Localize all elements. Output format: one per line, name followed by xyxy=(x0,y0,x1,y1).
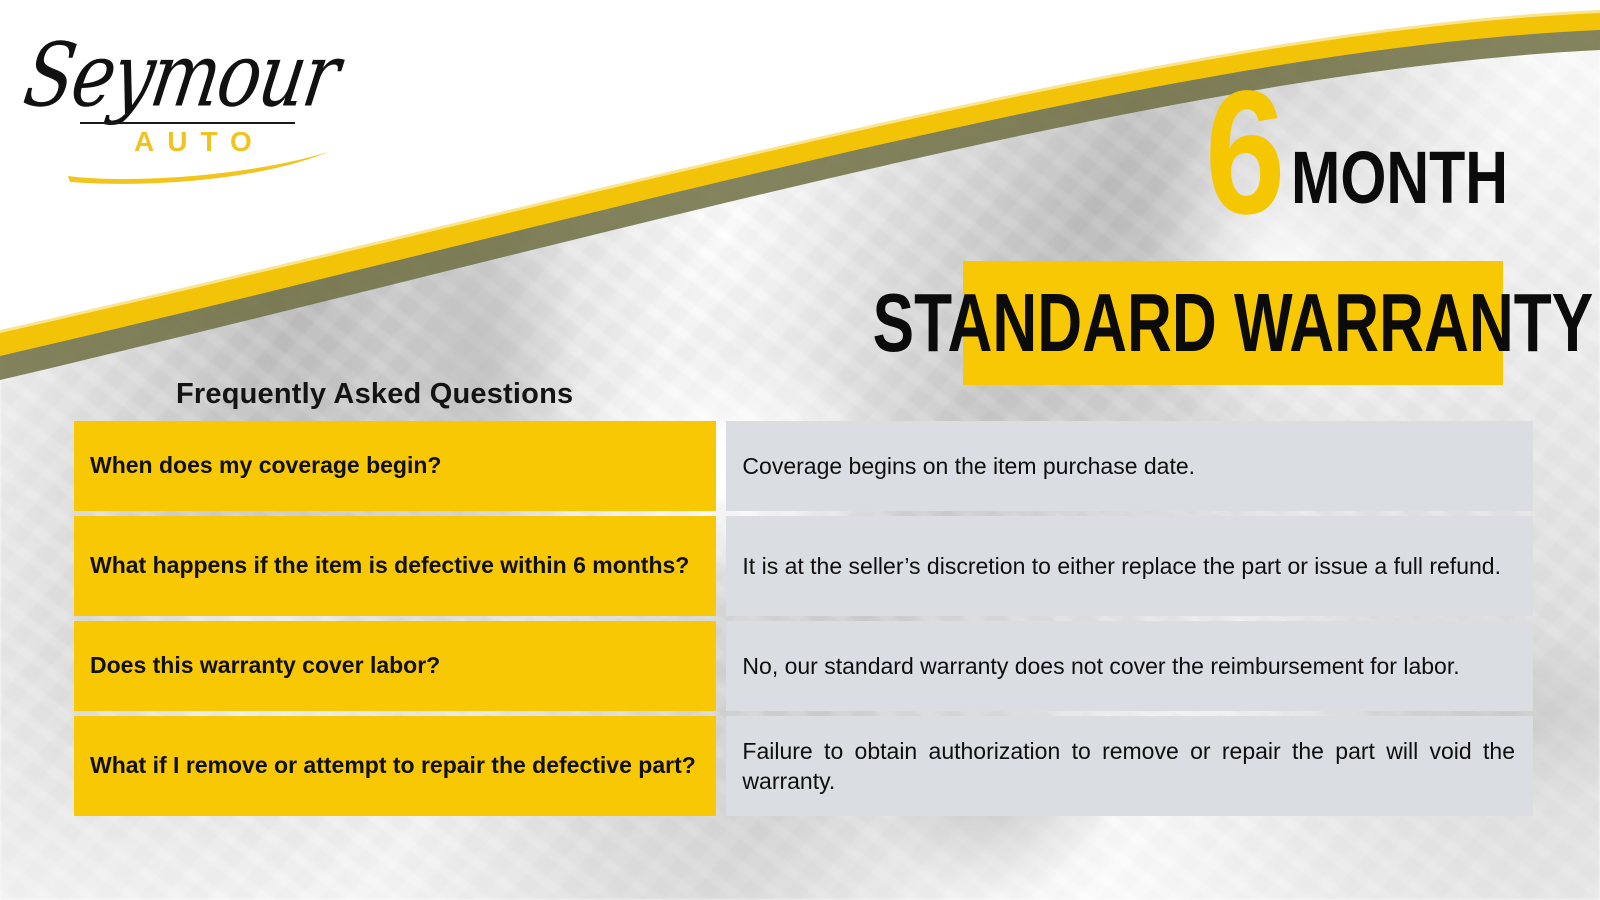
brand-logo: Seymour AUTO xyxy=(30,18,330,178)
faq-question-cell: Does this warranty cover labor? xyxy=(74,621,716,711)
logo-script-text: Seymour xyxy=(18,24,345,126)
duration-headline: 6 MONTH xyxy=(1205,78,1562,229)
faq-table: When does my coverage begin? Coverage be… xyxy=(74,421,1533,816)
table-row: What if I remove or attempt to repair th… xyxy=(74,716,1533,816)
faq-heading: Frequently Asked Questions xyxy=(176,378,573,411)
duration-unit: MONTH xyxy=(1291,141,1508,215)
table-row: Does this warranty cover labor? No, our … xyxy=(74,621,1533,711)
table-row: When does my coverage begin? Coverage be… xyxy=(74,421,1533,511)
faq-answer-cell: Coverage begins on the item purchase dat… xyxy=(726,421,1533,511)
duration-number: 6 xyxy=(1205,78,1282,229)
logo-underline-rule xyxy=(80,122,295,124)
warranty-slide: Seymour AUTO 6 MONTH STANDARD WARRANTY F… xyxy=(0,0,1600,900)
faq-question-cell: When does my coverage begin? xyxy=(74,421,716,511)
faq-question-cell: What if I remove or attempt to repair th… xyxy=(74,716,716,816)
faq-answer-cell: It is at the seller’s discretion to eith… xyxy=(726,516,1533,616)
faq-answer-cell: No, our standard warranty does not cover… xyxy=(726,621,1533,711)
standard-warranty-banner-text: STANDARD WARRANTY xyxy=(873,282,1594,365)
faq-answer-cell: Failure to obtain authorization to remov… xyxy=(726,716,1533,816)
standard-warranty-banner: STANDARD WARRANTY xyxy=(963,261,1503,385)
faq-question-cell: What happens if the item is defective wi… xyxy=(74,516,716,616)
table-row: What happens if the item is defective wi… xyxy=(74,516,1533,616)
logo-swoosh-icon xyxy=(60,146,360,186)
